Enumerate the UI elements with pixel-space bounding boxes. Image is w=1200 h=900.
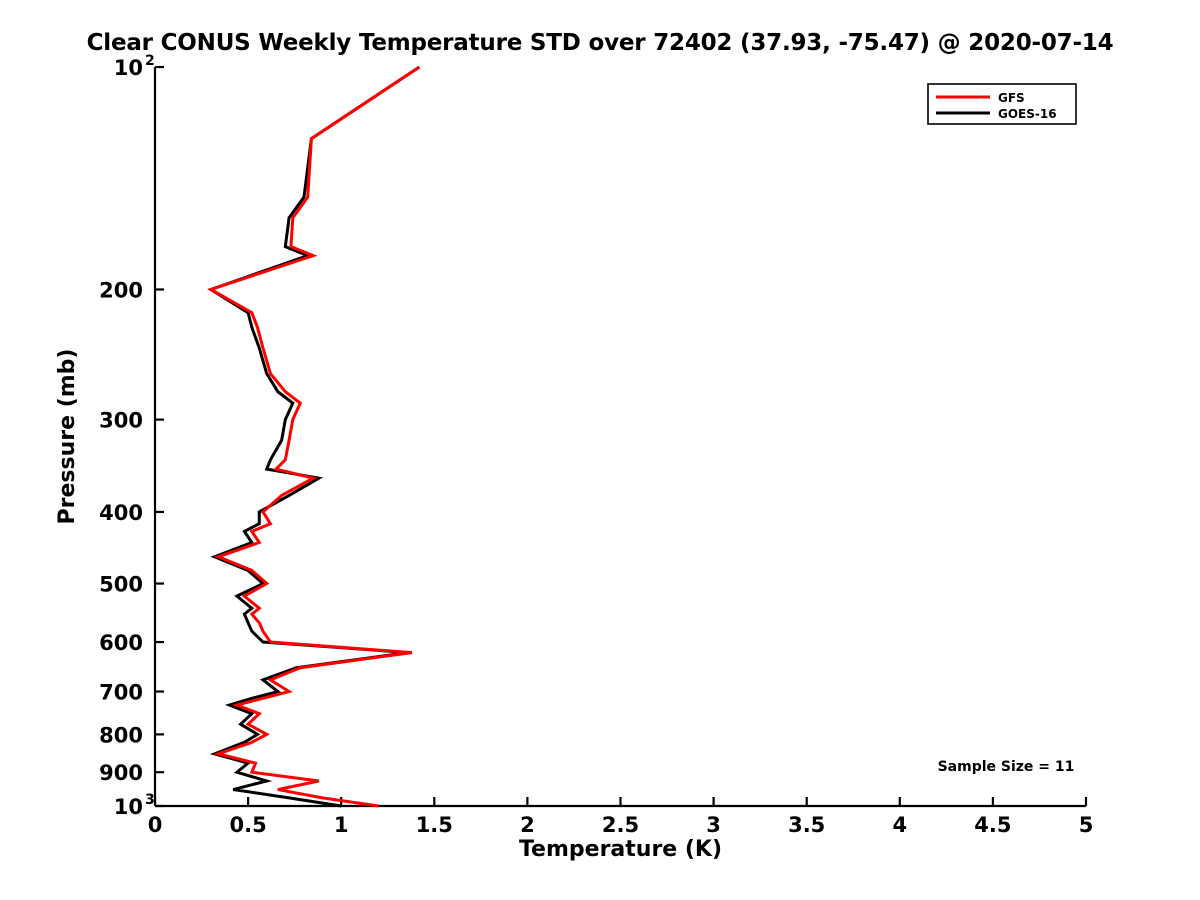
sample-size-annotation: Sample Size = 11 [938,759,1075,775]
data-series-group [211,67,420,806]
x-tick-label: 1 [334,813,349,837]
svg-text:800: 800 [99,723,143,747]
svg-text:3: 3 [145,792,155,808]
svg-text:600: 600 [99,631,143,655]
legend-label-goes-16: GOES-16 [998,107,1057,121]
x-tick-label: 1.5 [416,813,453,837]
x-tick-label: 2.5 [602,813,639,837]
plot-svg: 102200300400500600700800900103 00.511.52… [0,0,1200,900]
x-tick-labels: 00.511.522.533.544.55 [148,813,1094,837]
y-tick-label: 102 [114,53,155,80]
figure-canvas: Clear CONUS Weekly Temperature STD over … [0,0,1200,900]
y-axis-label: Pressure (mb) [55,349,80,525]
svg-text:300: 300 [99,409,143,433]
x-tick-label: 3 [706,813,721,837]
x-tick-label: 5 [1079,813,1094,837]
svg-text:2: 2 [145,53,155,69]
y-tick-label: 900 [99,761,143,785]
x-tick-label: 3.5 [788,813,825,837]
y-tick-label: 500 [99,573,143,597]
svg-text:900: 900 [99,761,143,785]
y-tick-label: 200 [99,278,143,302]
svg-text:10: 10 [114,56,143,80]
y-tick-label: 600 [99,631,143,655]
legend[interactable]: GFSGOES-16 [928,84,1076,124]
x-tick-label: 4.5 [974,813,1011,837]
y-tick-label: 300 [99,409,143,433]
y-tick-label: 800 [99,723,143,747]
x-tick-label: 2 [520,813,535,837]
svg-text:700: 700 [99,681,143,705]
svg-text:10: 10 [114,795,143,819]
series-line-goes-16 [211,67,420,806]
y-tick-labels: 102200300400500600700800900103 [99,53,155,819]
y-major-ticks [155,67,164,806]
series-line-gfs [211,67,420,806]
svg-text:500: 500 [99,573,143,597]
y-tick-label: 400 [99,501,143,525]
svg-text:200: 200 [99,278,143,302]
svg-text:400: 400 [99,501,143,525]
x-tick-label: 4 [892,813,907,837]
x-axis-label: Temperature (K) [519,837,722,862]
x-tick-label: 0 [148,813,163,837]
x-tick-label: 0.5 [229,813,266,837]
y-tick-label: 700 [99,681,143,705]
legend-label-gfs: GFS [998,91,1025,105]
